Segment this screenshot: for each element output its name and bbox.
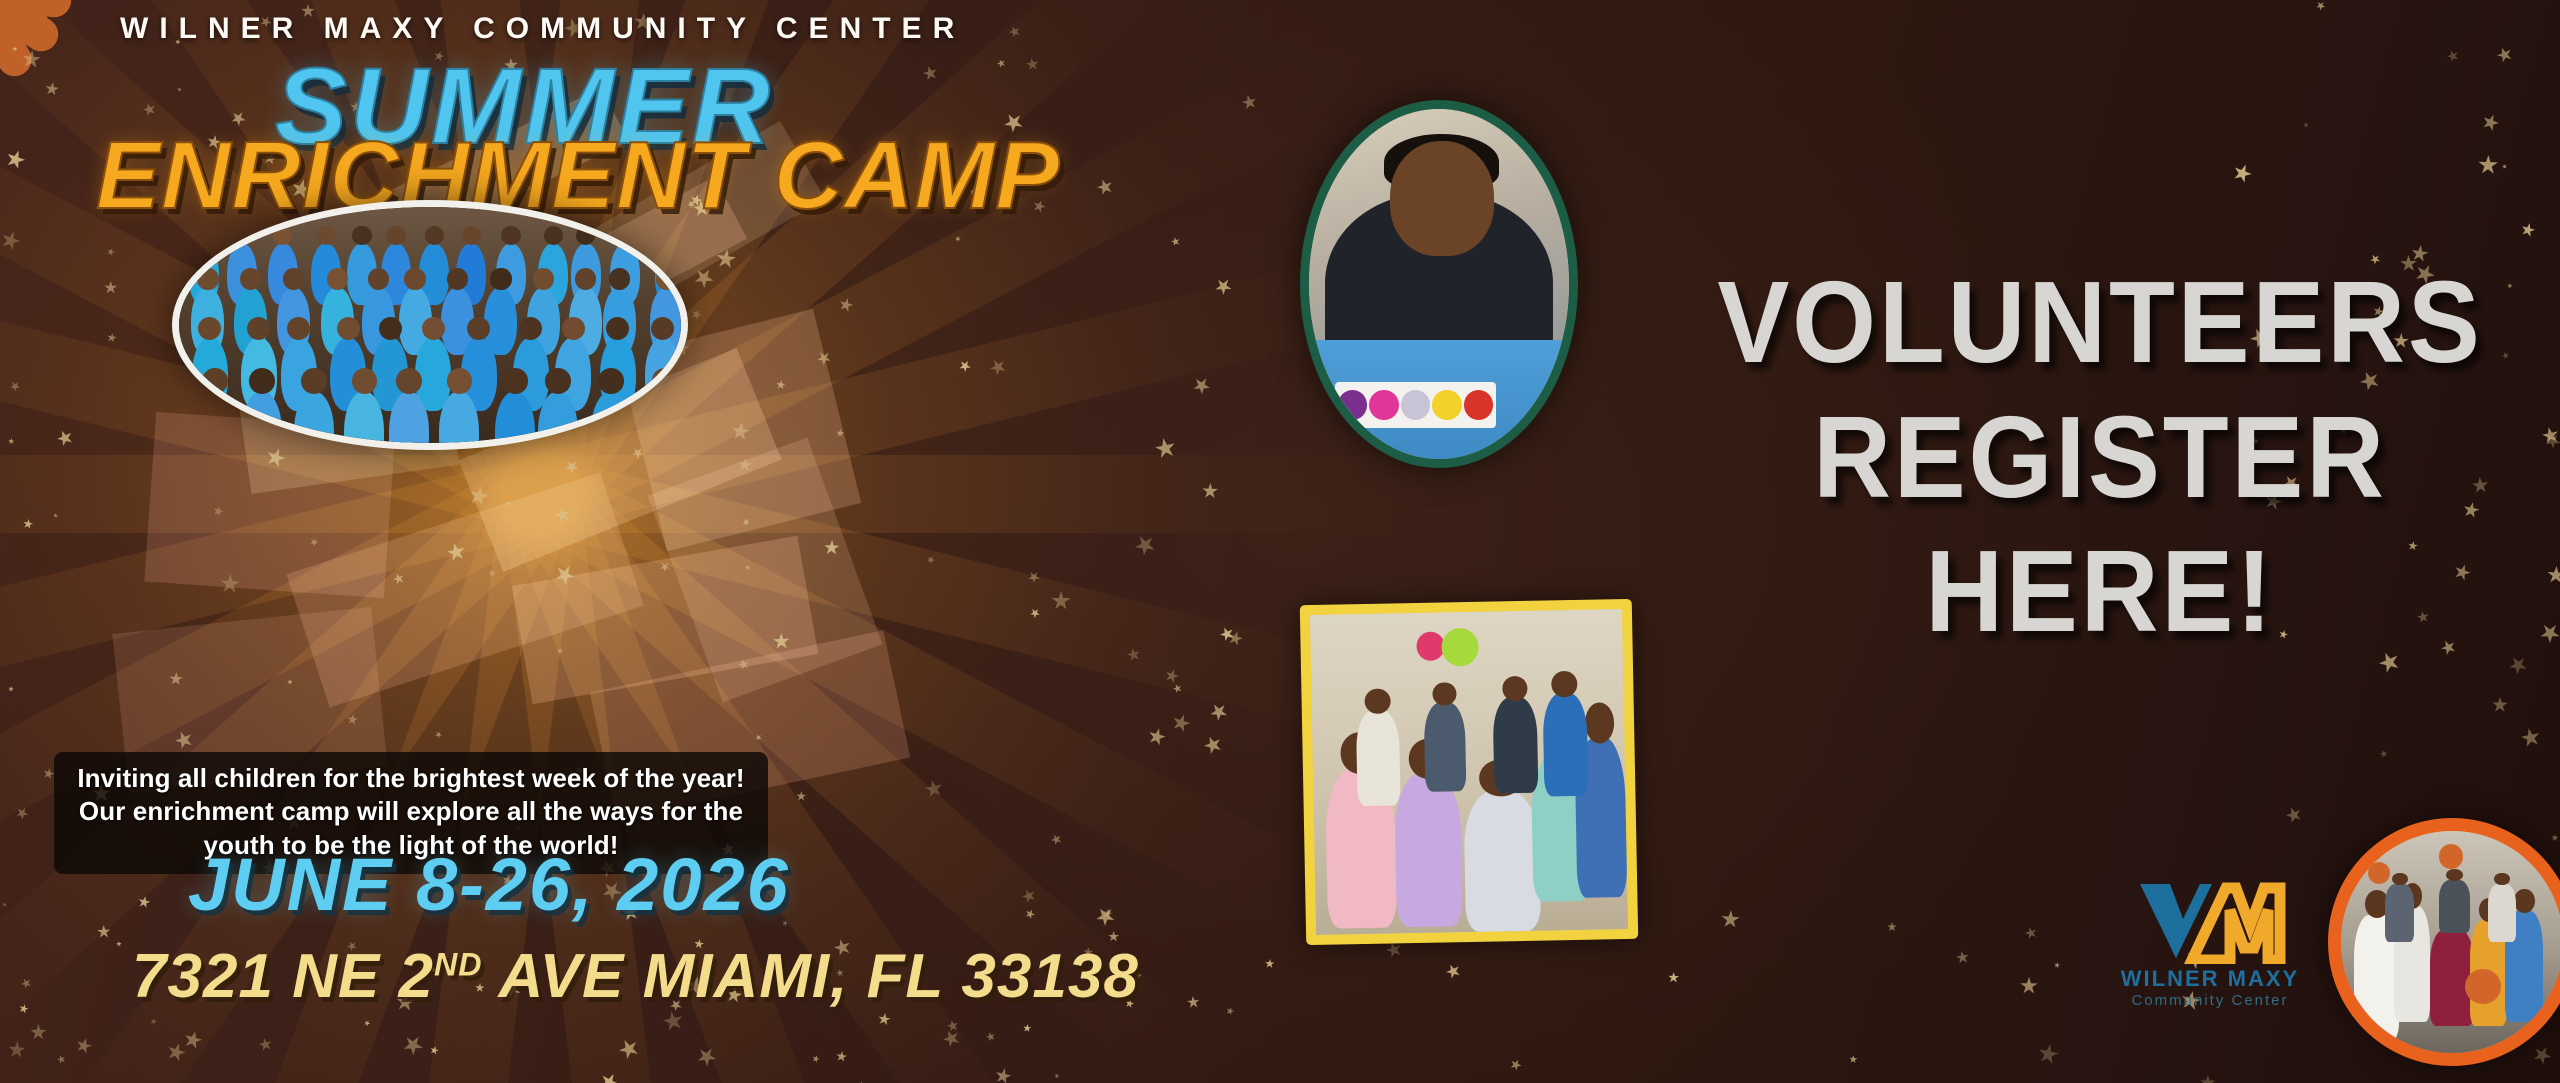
circle-photo-basketball-group — [2328, 818, 2560, 1066]
cta-line-volunteers: VOLUNTEERS — [1672, 255, 2528, 390]
address-suffix: AVE MIAMI, FL 33138 — [483, 942, 1139, 1011]
logo-name: WILNER MAXY — [2110, 968, 2310, 990]
wilner-maxy-logo: WILNER MAXY Community Center — [2110, 880, 2310, 1013]
cta-line-here: HERE! — [1672, 524, 2528, 659]
group-photo — [172, 200, 688, 450]
camp-address: 7321 NE 2ND AVE MIAMI, FL 33138 — [132, 946, 1139, 1008]
address-prefix: 7321 NE 2 — [132, 942, 434, 1011]
framed-photo-children-activity — [1300, 599, 1638, 945]
camp-dates: JUNE 8-26, 2026 — [188, 848, 790, 922]
call-to-action: VOLUNTEERS REGISTER HERE! — [1640, 255, 2560, 659]
logo-subtitle: Community Center — [2110, 990, 2310, 1013]
oval-photo-boy-painting — [1300, 100, 1578, 468]
summer-camp-banner: WILNER MAXY COMMUNITY CENTER SUMMER ENRI… — [0, 0, 2560, 1083]
watercolor-palette — [1335, 382, 1496, 428]
address-ordinal-suffix: ND — [434, 946, 483, 982]
vm-monogram-icon — [2130, 880, 2290, 964]
cta-line-register: REGISTER — [1672, 390, 2528, 525]
organization-name: WILNER MAXY COMMUNITY CENTER — [120, 12, 965, 46]
left-content-column: WILNER MAXY COMMUNITY CENTER SUMMER ENRI… — [0, 0, 830, 1083]
